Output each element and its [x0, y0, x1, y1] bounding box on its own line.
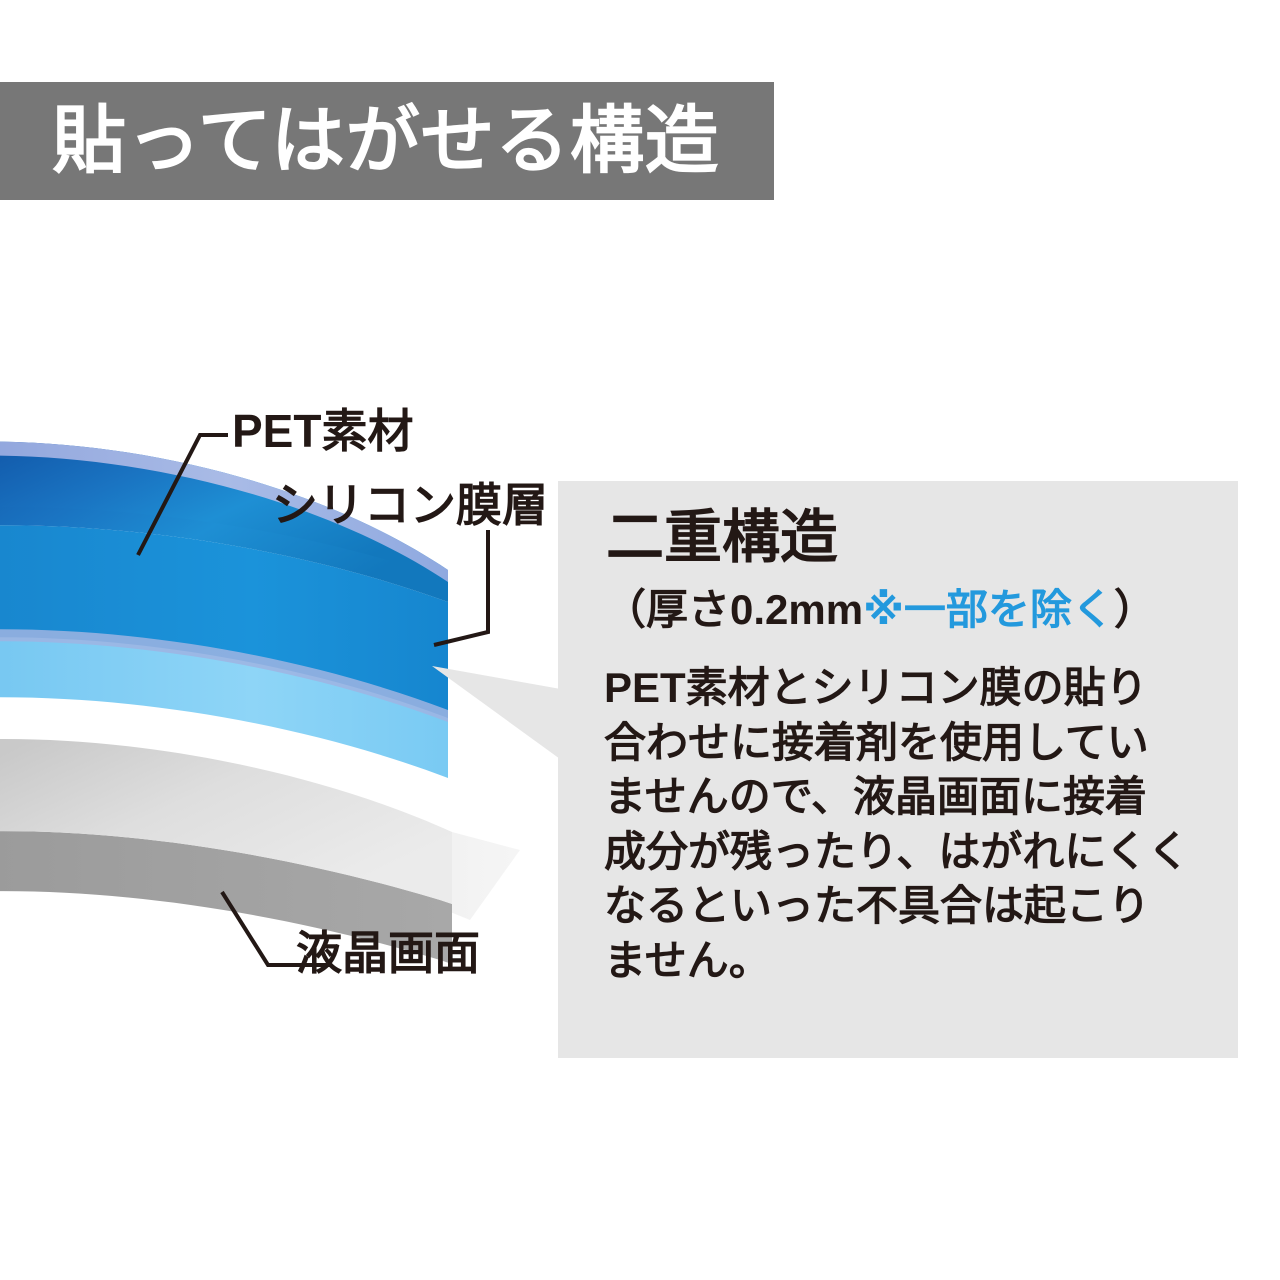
panel-body-text: PET素材とシリコン膜の貼り 合わせに接着剤を使用してい ませんので、液晶画面に…	[604, 661, 1224, 989]
body-line: 成分が残ったり、はがれにくく	[604, 825, 1224, 880]
label-silicone-film: シリコン膜層	[272, 482, 548, 528]
info-panel: 二重構造 （厚さ0.2mm※一部を除く） PET素材とシリコン膜の貼り 合わせに…	[558, 481, 1238, 1058]
body-line: 合わせに接着剤を使用してい	[604, 716, 1224, 771]
body-line: ませんので、液晶画面に接着	[604, 770, 1224, 825]
page-title: 貼ってはがせる構造	[52, 104, 719, 178]
subheading-suffix: ）	[1114, 586, 1156, 633]
label-pet-material: PET素材	[232, 408, 413, 454]
panel-subheading: （厚さ0.2mm※一部を除く）	[604, 589, 1156, 631]
body-line: なるといった不具合は起こり	[604, 879, 1224, 934]
panel-heading: 二重構造	[606, 509, 838, 567]
body-line: PET素材とシリコン膜の貼り	[604, 661, 1224, 716]
body-line: ません。	[604, 934, 1224, 989]
layer-stack-diagram	[0, 380, 620, 1020]
subheading-accent-note: ※一部を除く	[863, 586, 1114, 633]
label-lcd-screen: 液晶画面	[296, 930, 480, 976]
subheading-prefix: （厚さ0.2mm	[604, 586, 863, 633]
header-banner: 貼ってはがせる構造	[0, 82, 774, 200]
